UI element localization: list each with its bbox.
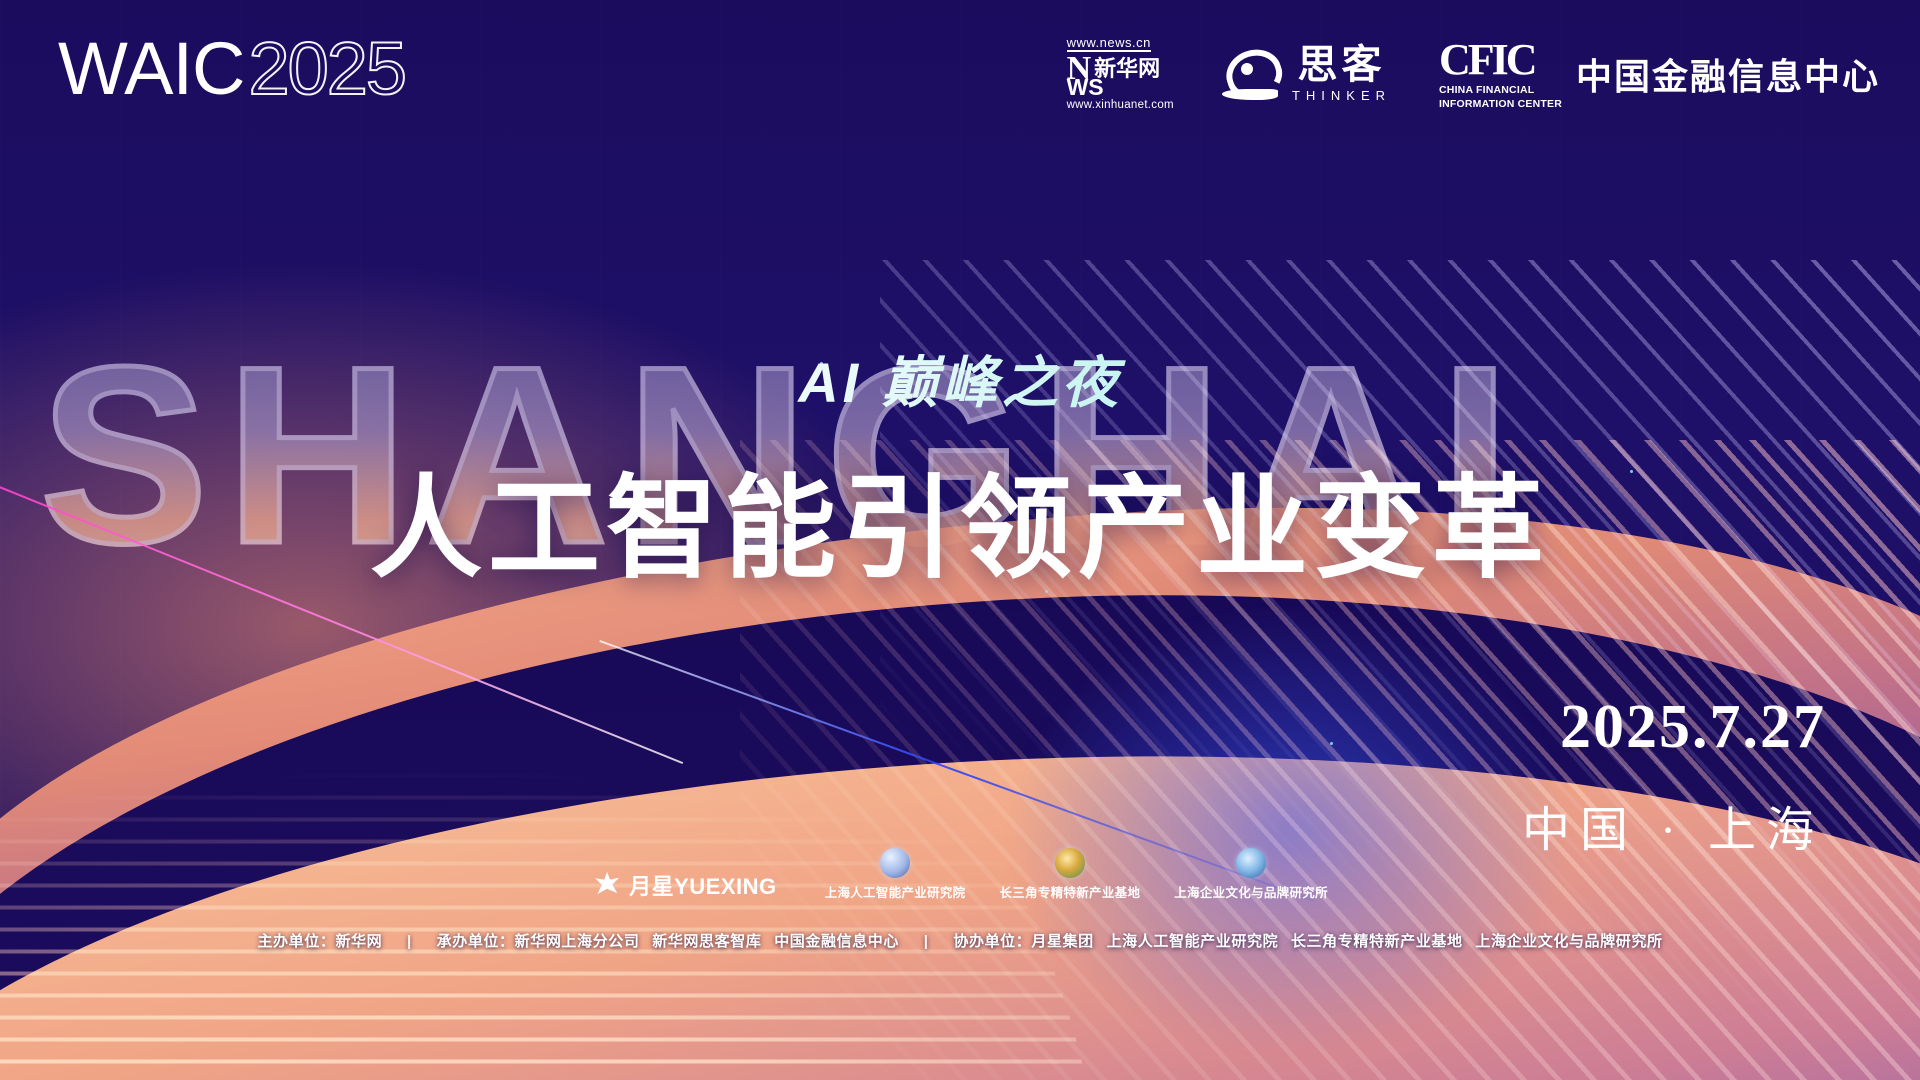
xinhua-news-logo: www.news.cn N 新华网 WS www.xinhuanet.com [1067, 36, 1174, 111]
cfic-logo: CFIC CHINA FINANCIAL INFORMATION CENTER … [1439, 38, 1880, 110]
thinker-name-en: THINKER [1292, 89, 1391, 102]
event-date: 2025.7.27 [1560, 692, 1826, 763]
thinker-wordmark: 思客 THINKER [1292, 45, 1391, 102]
sponsor-logo-shanghai-ai-institute: 上海人工智能产业研究院 [825, 848, 966, 901]
waic-logo-brand: WAIC [58, 32, 244, 106]
sponsor-name-brand-institute: 上海企业文化与品牌研究所 [1174, 882, 1328, 901]
seal-badge-icon [1236, 848, 1266, 878]
credit-divider-1: | [407, 933, 412, 950]
xinhua-letters-ws: WS [1067, 78, 1104, 98]
cfic-name-en-line2: INFORMATION CENTER [1439, 98, 1562, 110]
sponsor-name-yuexing: 月星YUEXING [629, 869, 777, 901]
sponsor-logo-strip: 月星YUEXING 上海人工智能产业研究院 长三角专精特新产业基地 上海企业文化… [0, 848, 1920, 901]
cfic-mark: CFIC CHINA FINANCIAL INFORMATION CENTER [1439, 38, 1562, 110]
credit-organizer: 承办单位：新华网上海分公司 [437, 930, 640, 951]
waic-logo-year: 2025 [248, 32, 405, 106]
waic-logo: WAIC 2025 [58, 32, 405, 106]
credits-bar: 主办单位：新华网 | 承办单位：新华网上海分公司 新华网思客智库 中国金融信息中… [0, 930, 1920, 951]
spark-dot [1330, 742, 1333, 745]
sponsor-name-shanghai-ai-institute: 上海人工智能产业研究院 [825, 882, 966, 901]
credit-coorganizer: 协办单位：月星集团 [953, 930, 1093, 951]
cfic-name-cn: 中国金融信息中心 [1576, 48, 1880, 100]
cfic-name-en-line1: CHINA FINANCIAL [1439, 84, 1562, 96]
credit-divider-2: | [924, 933, 929, 950]
sponsor-logo-yrd-base: 长三角专精特新产业基地 [999, 848, 1140, 901]
sponsor-name-yrd-base: 长三角专精特新产业基地 [999, 882, 1140, 901]
event-headline: 人工智能引领产业变革 [0, 438, 1920, 600]
credit-coorganizer-4: 上海企业文化与品牌研究所 [1475, 930, 1662, 951]
thinker-swirl-icon [1222, 48, 1280, 100]
cfic-abbr: CFIC [1439, 38, 1562, 82]
credit-organizer-2: 新华网思客智库 [652, 930, 761, 951]
xinhua-url-bottom: www.xinhuanet.com [1067, 100, 1174, 112]
xinhua-name-cn: 新华网 [1094, 58, 1160, 80]
sponsor-logo-yuexing: 月星YUEXING [592, 869, 777, 901]
thinker-logo: 思客 THINKER [1222, 45, 1391, 102]
sponsor-logo-brand-institute: 上海企业文化与品牌研究所 [1174, 848, 1328, 901]
event-poster: SHANGHAI WAIC 2025 www.news.cn N 新华网 WS … [0, 0, 1920, 1080]
poster-header: WAIC 2025 www.news.cn N 新华网 WS www.xinhu… [0, 0, 1920, 130]
credit-coorganizer-3: 长三角专精特新产业基地 [1291, 930, 1463, 951]
credit-host: 主办单位：新华网 [257, 930, 382, 951]
globe-badge-icon [880, 848, 910, 878]
credit-coorganizer-2: 上海人工智能产业研究院 [1107, 930, 1279, 951]
star-icon [592, 870, 622, 900]
credit-organizer-3: 中国金融信息中心 [774, 930, 899, 951]
partner-logo-row: www.news.cn N 新华网 WS www.xinhuanet.com 思… [1067, 36, 1880, 111]
thinker-name-cn: 思客 [1297, 45, 1385, 85]
event-subtitle: AI 巅峰之夜 [0, 338, 1920, 419]
region-badge-icon [1055, 848, 1085, 878]
